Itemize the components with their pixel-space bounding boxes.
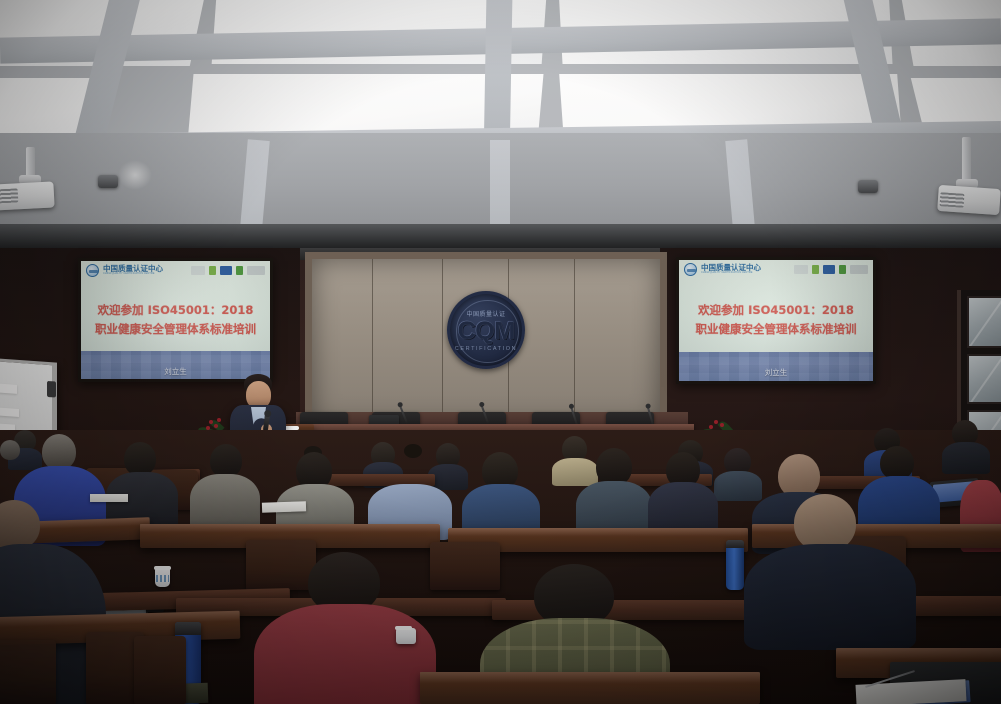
audience-head [42, 434, 76, 470]
spotlight-glow [118, 160, 152, 190]
ceiling-spotlight [98, 175, 118, 188]
audience-body [744, 544, 916, 650]
slide-title-line1: 欢迎参加 ISO45001：2018 [81, 302, 270, 318]
slide-header: 中国质量认证中心 CHINA QUALITY CERTIFICATION CEN… [81, 261, 270, 279]
plant-flower [714, 420, 718, 424]
conference-room-photo: 中国质量认证 CQM CERTIFICATION 中国质量认证中心 CHINA … [0, 0, 1001, 704]
slide-header: 中国质量认证中心 CHINA QUALITY CERTIFICATION CEN… [679, 260, 873, 278]
window-pane [967, 296, 1001, 348]
audience-body [714, 471, 762, 501]
ceiling-shadow-band [0, 224, 1001, 250]
plant-flower [720, 423, 724, 427]
seated-audience-member [468, 452, 534, 534]
seated-audience-member [580, 448, 648, 532]
partner-logo [823, 265, 835, 274]
ceiling-spotlight [858, 180, 878, 193]
audience-desk [420, 672, 760, 704]
partner-logo [812, 265, 819, 274]
paper-cup [396, 628, 416, 644]
partner-logo-row [191, 266, 265, 275]
whiteboard-clip [47, 381, 56, 398]
notebook [262, 501, 306, 513]
panel-seam [574, 259, 575, 425]
left-projection-screen[interactable]: 中国质量认证中心 CHINA QUALITY CERTIFICATION CEN… [78, 258, 273, 382]
emblem-subtitle: CERTIFICATION [455, 346, 517, 352]
emblem-chinese-text: 中国质量认证 [466, 309, 505, 318]
whiteboard-note [0, 407, 19, 417]
partner-logo [191, 266, 205, 275]
whiteboard-note [0, 383, 17, 394]
desk-edge-highlight [420, 672, 760, 683]
cup-label-band [156, 575, 169, 582]
cqm-certification-emblem: 中国质量认证 CQM CERTIFICATION [447, 291, 525, 369]
panel-seam [372, 259, 373, 425]
paper-cup [155, 568, 170, 587]
audience-head [880, 446, 914, 480]
projector-pole [962, 137, 971, 181]
audience-body [254, 604, 436, 704]
desk-edge-highlight [448, 528, 748, 536]
partner-logo [839, 265, 846, 274]
audience-head [0, 500, 40, 550]
blue-thermos-flask [726, 540, 744, 590]
coffered-ceiling [0, 0, 1001, 250]
seated-audience-member [756, 494, 916, 634]
right-screen-surface: 中国质量认证中心 CHINA QUALITY CERTIFICATION CEN… [679, 260, 873, 381]
window-reflection [967, 354, 1001, 404]
projector-pole [26, 147, 35, 177]
window-pane [967, 354, 1001, 404]
chair-back [0, 640, 56, 704]
cqc-logo-icon [86, 264, 99, 277]
seated-audience-member [282, 450, 348, 530]
right-projection-screen[interactable]: 中国质量认证中心 CHINA QUALITY CERTIFICATION CEN… [676, 257, 876, 384]
slide-presenter-name: 刘立生 [679, 367, 873, 378]
slide-title-line1: 欢迎参加 ISO45001：2018 [679, 302, 873, 318]
partner-logo-row [794, 265, 868, 274]
partner-logo [220, 266, 232, 275]
thermos-cap [175, 622, 201, 635]
cqc-logo-icon [684, 263, 697, 276]
seated-audience-member [374, 448, 446, 532]
partner-logo [247, 266, 265, 275]
cqc-org-name-en: CHINA QUALITY CERTIFICATION CENTRE [701, 272, 761, 275]
chair-back [134, 636, 186, 704]
panel-seam [442, 259, 443, 425]
audience-head [124, 442, 156, 476]
audience-head [0, 440, 20, 460]
left-screen-surface: 中国质量认证中心 CHINA QUALITY CERTIFICATION CEN… [81, 261, 270, 379]
seated-audience-member [194, 444, 256, 522]
slide-title-line2: 职业健康安全管理体系标准培训 [81, 321, 270, 337]
plant-flower [709, 425, 713, 429]
seated-audience-member [112, 442, 172, 522]
desk-edge-highlight [140, 524, 440, 532]
seated-audience-member [718, 448, 758, 496]
slide-title-line2: 职业健康安全管理体系标准培训 [679, 321, 873, 337]
partner-logo [236, 266, 243, 275]
partner-logo [850, 265, 868, 274]
projector-vent [940, 192, 965, 208]
plant-flower [214, 424, 218, 428]
thermos-cap [726, 540, 744, 548]
audience-head [210, 444, 242, 478]
partner-logo [794, 265, 808, 274]
seated-audience-member [946, 420, 986, 468]
plant-flower [209, 420, 213, 424]
window-reflection [967, 296, 1001, 348]
projector-vent [0, 188, 18, 203]
chair-back [430, 542, 500, 590]
desk-edge-highlight [836, 648, 1001, 659]
cqc-org-name-en: CHINA QUALITY CERTIFICATION CENTRE [103, 273, 163, 276]
plant-flower [217, 418, 221, 422]
seated-audience-member [652, 452, 714, 532]
partner-logo [209, 266, 216, 275]
